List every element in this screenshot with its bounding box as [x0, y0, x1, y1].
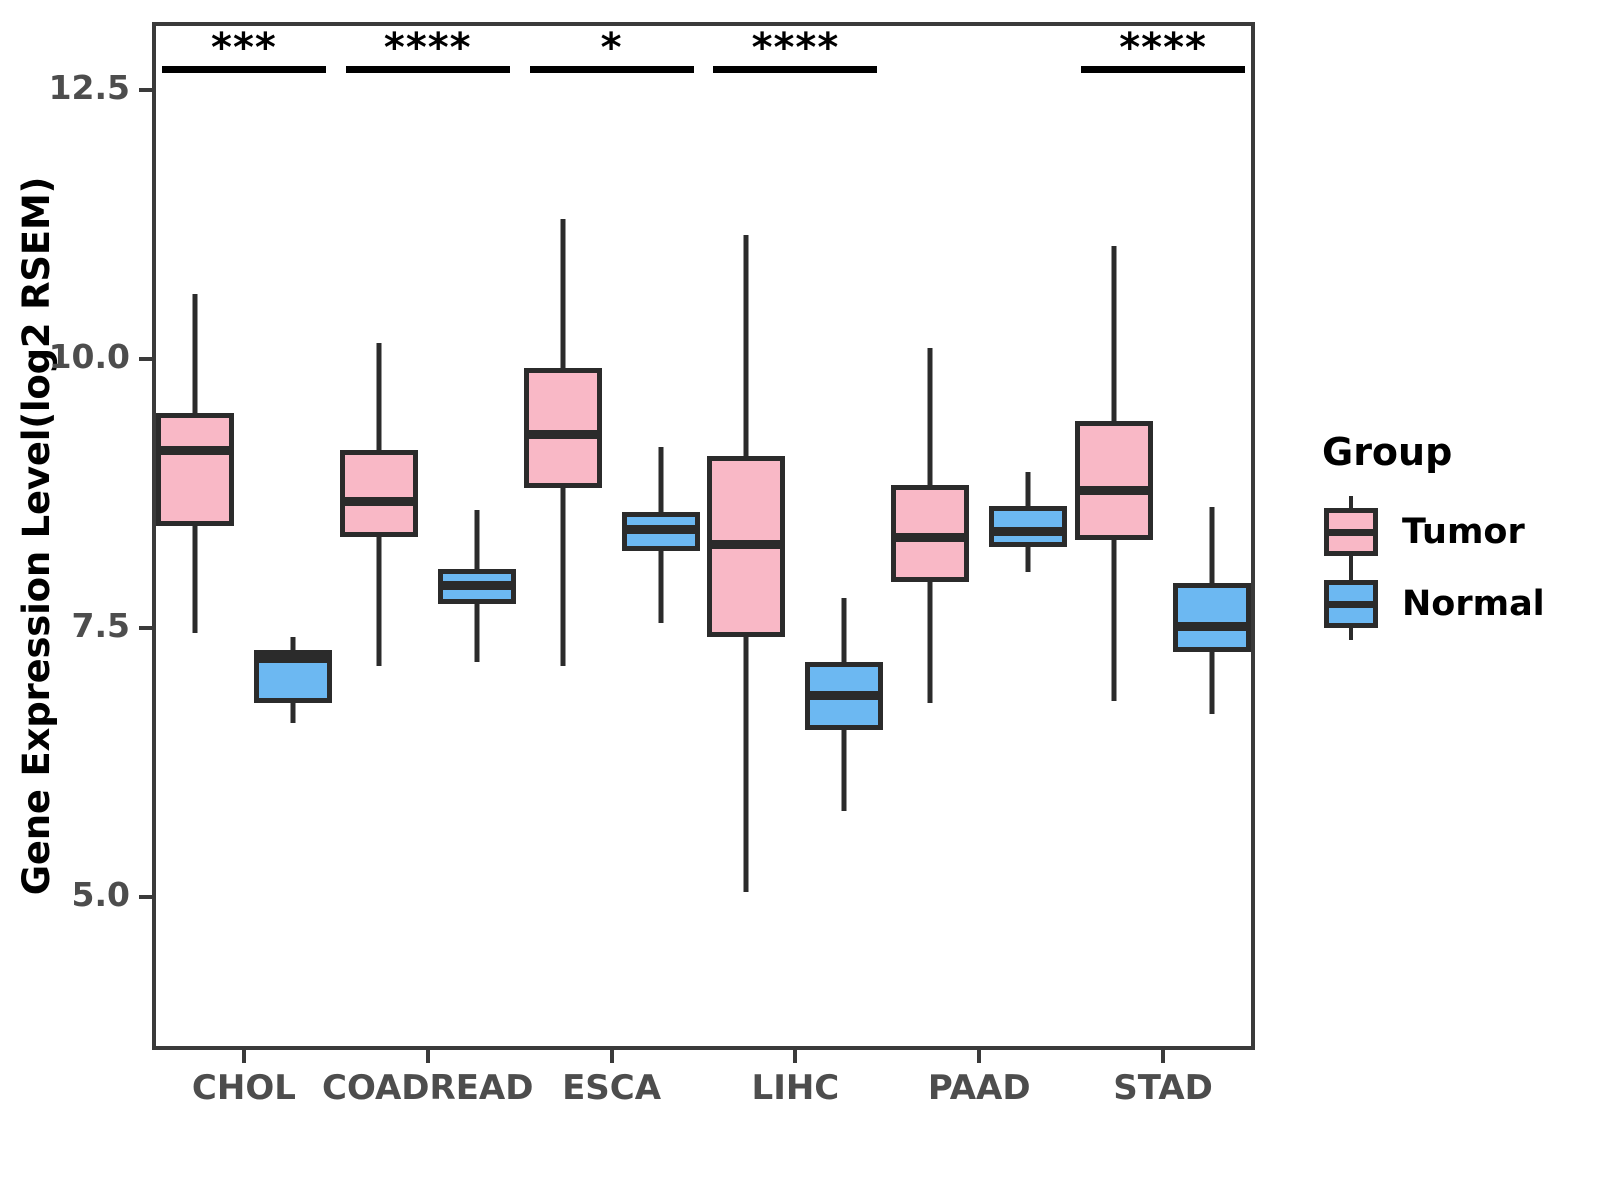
boxplot-median-tumor-chol: [156, 446, 234, 455]
x-axis-tick-label: COADREAD: [322, 1068, 533, 1108]
legend-key-tumor: [1322, 505, 1380, 559]
plot-area: [156, 26, 1251, 1046]
y-axis-tick-label: 12.5: [10, 68, 130, 107]
boxplot-median-normal-stad: [1173, 622, 1251, 631]
x-axis-tick-mark: [242, 1050, 246, 1063]
boxplot-box-tumor-stad: [1075, 421, 1153, 539]
legend-key-whisker-bottom: [1349, 556, 1353, 568]
x-axis-tick-mark: [793, 1050, 797, 1063]
legend: Group TumorNormal: [1322, 430, 1582, 640]
boxplot-median-tumor-stad: [1075, 486, 1153, 495]
legend-item-label: Normal: [1402, 584, 1545, 624]
x-axis-tick-mark: [977, 1050, 981, 1063]
legend-key-median: [1324, 601, 1378, 608]
significance-stars: ****: [384, 28, 472, 68]
legend-key-whisker-bottom: [1349, 628, 1353, 640]
x-axis-tick-label: ESCA: [562, 1068, 661, 1108]
boxplot-box-tumor-chol: [156, 413, 234, 526]
boxplot-median-normal-chol: [254, 654, 332, 663]
boxplot-box-normal-stad: [1173, 583, 1251, 652]
plot-panel: [152, 22, 1255, 1050]
legend-items: TumorNormal: [1322, 496, 1582, 640]
chart-root: Gene Expression Level(log2 RSEM) 12.510.…: [0, 0, 1600, 1200]
boxplot-box-tumor-esca: [524, 368, 602, 489]
boxplot-box-tumor-coadread: [340, 450, 418, 536]
legend-title: Group: [1322, 430, 1582, 474]
legend-item-label: Tumor: [1402, 512, 1525, 552]
y-axis-tick-mark: [139, 357, 152, 361]
boxplot-median-tumor-lihc: [707, 540, 785, 549]
boxplot-median-tumor-paad: [891, 533, 969, 542]
y-axis-tick-label: 7.5: [10, 606, 130, 645]
significance-stars: ****: [1119, 28, 1207, 68]
boxplot-median-tumor-esca: [524, 430, 602, 439]
y-axis-tick-label: 5.0: [10, 875, 130, 914]
y-axis-tick-mark: [139, 895, 152, 899]
boxplot-median-normal-lihc: [805, 691, 883, 700]
x-axis-tick-label: CHOL: [192, 1068, 296, 1108]
x-axis-tick-label: PAAD: [928, 1068, 1031, 1108]
x-axis-tick-mark: [1161, 1050, 1165, 1063]
significance-stars: ***: [211, 28, 277, 68]
x-axis-tick-label: STAD: [1113, 1068, 1213, 1108]
y-axis-tick-label: 10.0: [10, 337, 130, 376]
legend-key-whisker-top: [1349, 568, 1353, 580]
significance-stars: *: [601, 28, 623, 68]
boxplot-median-normal-esca: [622, 525, 700, 534]
boxplot-median-tumor-coadread: [340, 497, 418, 506]
boxplot-median-normal-coadread: [438, 581, 516, 590]
x-axis-tick-mark: [426, 1050, 430, 1063]
significance-stars: ****: [752, 28, 840, 68]
legend-key-median: [1324, 529, 1378, 536]
legend-item-normal[interactable]: Normal: [1322, 568, 1582, 640]
legend-item-tumor[interactable]: Tumor: [1322, 496, 1582, 568]
y-axis-tick-mark: [139, 88, 152, 92]
legend-key-whisker-top: [1349, 496, 1353, 508]
legend-key-normal: [1322, 577, 1380, 631]
x-axis-tick-mark: [610, 1050, 614, 1063]
boxplot-median-normal-paad: [989, 527, 1067, 536]
y-axis-tick-mark: [139, 626, 152, 630]
x-axis-tick-label: LIHC: [752, 1068, 840, 1108]
